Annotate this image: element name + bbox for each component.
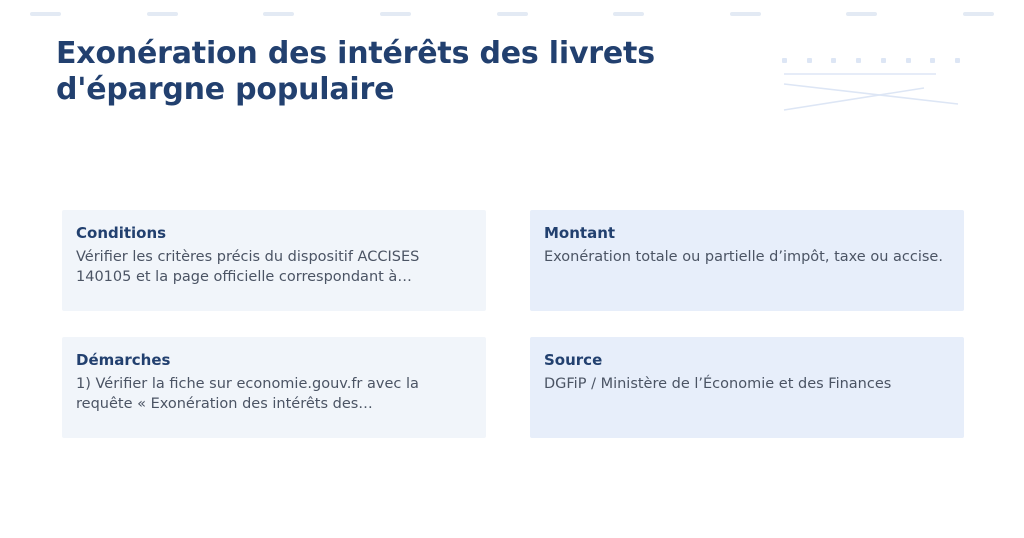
dot-mark [881,58,886,63]
card-body: Vérifier les critères précis du disposit… [76,248,472,287]
dot-mark [955,58,960,63]
dash-mark [613,12,644,16]
dash-mark [380,12,411,16]
card-title: Montant [544,224,950,242]
dash-mark [147,12,178,16]
dot-mark [831,58,836,63]
slide-root: Exonération des intérêts des livrets d'é… [0,0,1024,538]
page-title: Exonération des intérêts des livrets d'é… [56,36,736,108]
card-body: DGFiP / Ministère de l’Économie et des F… [544,375,950,395]
dash-mark [497,12,528,16]
top-dash-rule [0,12,1024,16]
corner-lines-icon [776,70,966,118]
card-source: Source DGFiP / Ministère de l’Économie e… [530,337,964,438]
dot-mark [807,58,812,63]
card-body: 1) Vérifier la fiche sur economie.gouv.f… [76,375,472,414]
corner-deco [776,48,966,118]
dot-mark [856,58,861,63]
slide-header: Exonération des intérêts des livrets d'é… [56,36,756,108]
dash-mark [263,12,294,16]
dash-mark [30,12,61,16]
corner-dots-row [782,56,960,64]
card-montant: Montant Exonération totale ou partielle … [530,210,964,311]
card-title: Conditions [76,224,472,242]
card-conditions: Conditions Vérifier les critères précis … [62,210,486,311]
card-title: Source [544,351,950,369]
cards-grid: Conditions Vérifier les critères précis … [62,210,964,438]
dot-mark [930,58,935,63]
dot-mark [906,58,911,63]
card-demarches: Démarches 1) Vérifier la fiche sur econo… [62,337,486,438]
card-body: Exonération totale ou partielle d’impôt,… [544,248,950,268]
dash-mark [963,12,994,16]
card-title: Démarches [76,351,472,369]
dash-mark [846,12,877,16]
dash-mark [730,12,761,16]
dot-mark [782,58,787,63]
